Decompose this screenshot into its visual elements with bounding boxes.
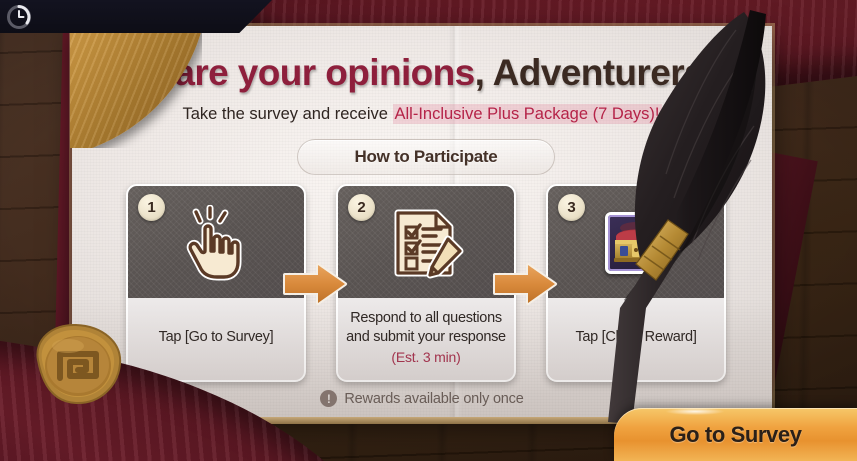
- arrow-right-icon: [492, 262, 558, 306]
- how-to-participate-banner: How to Participate: [297, 139, 555, 175]
- step-2-label: Respond to all questions and submit your…: [346, 310, 506, 345]
- status-bar: [0, 0, 272, 33]
- subtitle-prefix: Take the survey and receive: [182, 105, 392, 123]
- step-card-2-caption: Respond to all questions and submit your…: [338, 298, 514, 380]
- scene-background: Share your opinions, Adventurers! Take t…: [0, 0, 857, 461]
- step-card-1: 1 Tap [Go to Survey]: [126, 184, 306, 382]
- go-to-survey-button[interactable]: Go to Survey: [614, 408, 857, 461]
- step-card-3: 3 Tap [Claim Reward]: [546, 184, 726, 382]
- page-title: Share your opinions, Adventurers!: [72, 52, 772, 94]
- info-exclamation-icon: !: [320, 390, 337, 407]
- step-2-sub: (Est. 3 min): [345, 349, 507, 365]
- page-title-primary: Share your opinions: [128, 52, 474, 93]
- treasure-chest-tile: [605, 212, 667, 274]
- step-3-number-badge: 3: [558, 194, 585, 221]
- rewards-note-text: Rewards available only once: [344, 391, 523, 407]
- page-subtitle: Take the survey and receive All-Inclusiv…: [72, 105, 772, 124]
- arrow-1: [282, 262, 348, 306]
- go-to-survey-label: Go to Survey: [669, 422, 801, 448]
- reward-highlight: All-Inclusive Plus Package (7 Days)!: [393, 104, 662, 124]
- treasure-chest-icon: [609, 219, 663, 267]
- step-2-number-badge: 2: [348, 194, 375, 221]
- step-card-1-caption: Tap [Go to Survey]: [128, 298, 304, 380]
- tap-hand-icon: [180, 205, 252, 281]
- step-1-label: Tap [Go to Survey]: [159, 329, 274, 345]
- arrow-right-icon: [282, 262, 348, 306]
- page-title-secondary: , Adventurers!: [475, 52, 716, 93]
- how-to-participate-label: How to Participate: [355, 147, 498, 167]
- step-3-label: Tap [Claim Reward]: [575, 329, 696, 345]
- step-card-2: 2 Respond to all questions and submit yo…: [336, 184, 516, 382]
- step-1-number-badge: 1: [138, 194, 165, 221]
- announcement-panel: Share your opinions, Adventurers! Take t…: [72, 26, 772, 418]
- steps-container: 1 Tap [Go to Survey]: [126, 184, 726, 384]
- step-card-3-caption: Tap [Claim Reward]: [548, 298, 724, 380]
- arrow-2: [492, 262, 558, 306]
- wax-seal-emblem: [26, 316, 130, 412]
- clock-timer-icon[interactable]: [6, 4, 32, 30]
- survey-checklist-pencil-icon: [386, 205, 466, 281]
